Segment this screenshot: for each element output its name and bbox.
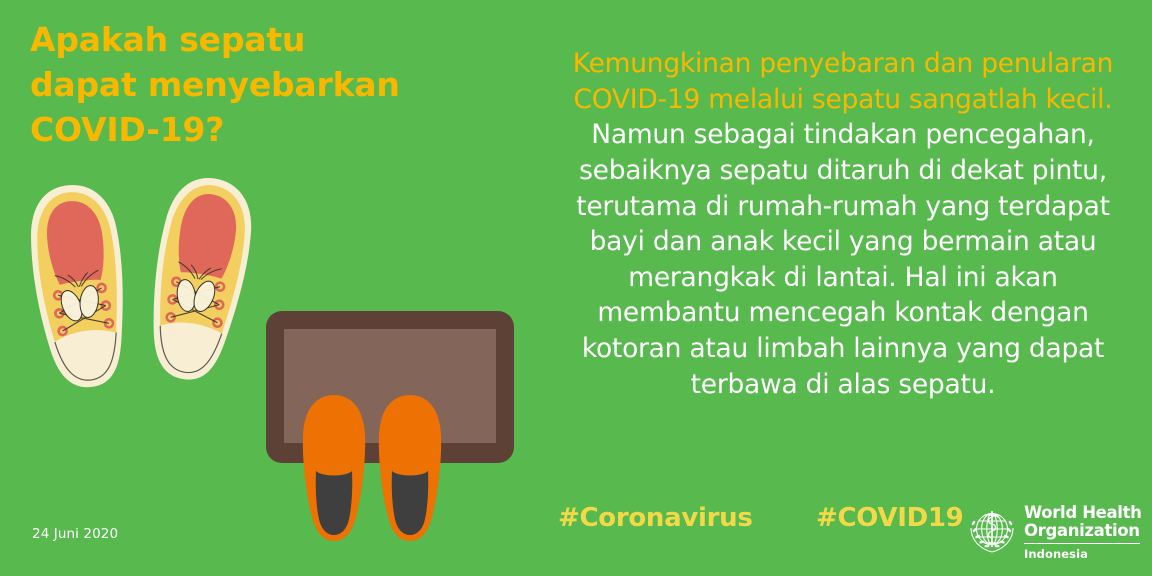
body-line-10: terbawa di alas sepatu. [538, 367, 1148, 403]
doormat-and-slippers-illustration [258, 307, 528, 569]
pair-of-sneakers-illustration [22, 168, 262, 413]
body-line-6: bayi dan anak kecil yang bermain atau [538, 224, 1148, 260]
left-slipper-icon [303, 395, 365, 541]
headline-line-3: COVID-19? [30, 108, 500, 153]
who-name-line-2: Organization [1024, 522, 1142, 540]
infographic-poster: Apakah sepatu dapat menyebarkan COVID-19… [0, 0, 1152, 576]
left-sneaker-icon [23, 180, 136, 392]
hashtag-group: #Coronavirus #COVID19 [538, 503, 978, 543]
right-panel: Kemungkinan penyebaran dan penularan COV… [526, 0, 1152, 576]
body-copy: Kemungkinan penyebaran dan penularan COV… [538, 46, 1148, 402]
date-stamp: 24 Juni 2020 [32, 526, 118, 542]
body-line-9: kotoran atau limbah lainnya yang dapat [538, 331, 1148, 367]
page-title: Apakah sepatu dapat menyebarkan COVID-19… [30, 18, 500, 153]
headline-line-1: Apakah sepatu [30, 18, 500, 63]
body-line-4: sebaiknya sepatu ditaruh di dekat pintu, [538, 153, 1148, 189]
hashtag-covid19[interactable]: #COVID19 [816, 503, 963, 533]
body-line-1: Kemungkinan penyebaran dan penularan [538, 46, 1148, 82]
right-sneaker-icon [140, 172, 259, 386]
hashtag-coronavirus[interactable]: #Coronavirus [558, 503, 753, 533]
who-country-label: Indonesia [1024, 547, 1142, 561]
body-line-7: merangkak di lantai. Hal ini akan [538, 260, 1148, 296]
right-slipper-icon [379, 395, 441, 541]
who-divider [1024, 543, 1140, 545]
who-name-line-1: World Health [1024, 504, 1142, 522]
body-line-5: terutama di rumah-rumah yang terdapat [538, 189, 1148, 225]
body-line-8: membantu mencegah kontak dengan [538, 295, 1148, 331]
who-wordmark: World Health Organization Indonesia [1024, 504, 1142, 561]
left-panel: Apakah sepatu dapat menyebarkan COVID-19… [0, 0, 530, 576]
headline-line-2: dapat menyebarkan [30, 63, 500, 108]
who-emblem-icon [966, 505, 1018, 557]
body-line-2: COVID-19 melalui sepatu sangatlah kecil. [538, 82, 1148, 118]
body-line-3: Namun sebagai tindakan pencegahan, [538, 117, 1148, 153]
who-logo: World Health Organization Indonesia [966, 504, 1144, 566]
